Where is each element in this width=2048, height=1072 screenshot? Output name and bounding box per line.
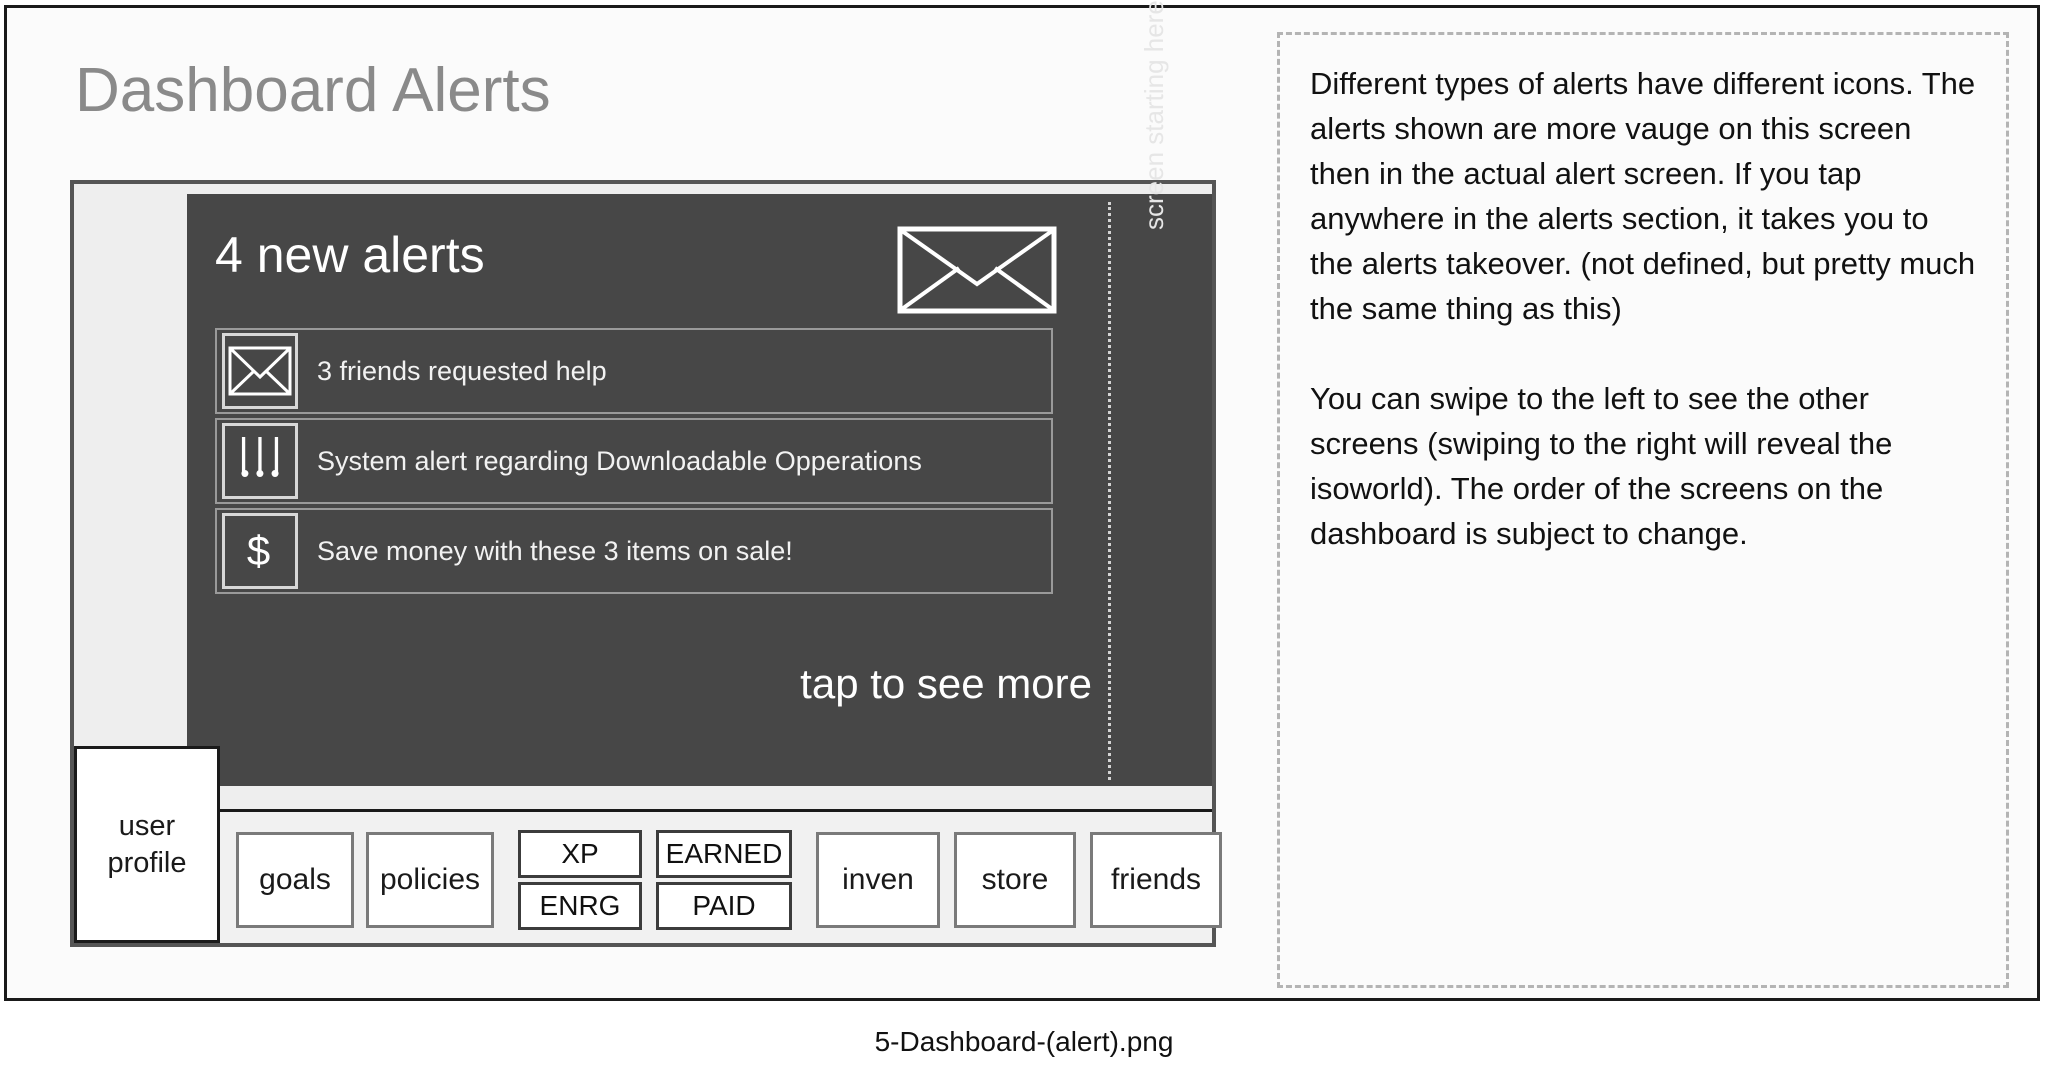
nav-item-inven-label: inven [842,863,914,897]
stat-earned[interactable]: EARNED [656,830,792,878]
list-item-label: Save money with these 3 items on sale! [317,510,793,592]
nav-item-user-profile-line1: user [119,808,175,844]
stat-paid[interactable]: PAID [656,882,792,930]
slide-canvas: Dashboard Alerts 4 new alerts [0,0,2048,1072]
alerts-header-title: 4 new alerts [215,226,485,284]
phone-mockup: 4 new alerts [70,180,1216,947]
page-title: Dashboard Alerts [75,55,551,126]
list-item-label: System alert regarding Downloadable Oppe… [317,420,922,502]
dollar-icon: $ [222,513,298,589]
nav-item-policies[interactable]: policies [366,832,494,928]
list-item[interactable]: $ Save money with these 3 items on sale! [215,508,1053,594]
nav-item-inven[interactable]: inven [816,832,940,928]
tap-to-see-more-label[interactable]: tap to see more [800,660,1092,708]
list-item-label: 3 friends requested help [317,330,607,412]
nav-item-goals-label: goals [259,863,331,897]
nav-item-store-label: store [982,863,1049,897]
nav-item-policies-label: policies [380,863,480,897]
nav-item-friends-label: friends [1111,863,1201,897]
list-item[interactable]: ||| ••• System alert regarding Downloada… [215,418,1053,504]
envelope-icon [897,226,1057,314]
alerts-screen: 4 new alerts [187,194,1212,786]
nav-item-friends[interactable]: friends [1090,832,1222,928]
screen-divider [1108,202,1111,780]
slide-frame: Dashboard Alerts 4 new alerts [4,5,2040,1001]
list-item[interactable]: 3 friends requested help [215,328,1053,414]
annotation-paragraph-1: Different types of alerts have different… [1310,61,1976,331]
stat-paid-label: PAID [692,890,755,922]
stat-enrg-label: ENRG [540,890,621,922]
file-caption: 5-Dashboard-(alert).png [0,1026,2048,1058]
annotation-panel: Different types of alerts have different… [1277,32,2009,988]
bottom-nav-bar: user profile goals policies XP ENRG EARN… [74,809,1212,943]
nav-item-user-profile-line2: profile [108,845,187,881]
exclamation-dots: ••• [240,464,285,483]
stat-earned-label: EARNED [666,838,783,870]
nav-item-store[interactable]: store [954,832,1076,928]
envelope-icon [222,333,298,409]
stat-xp-label: XP [561,838,598,870]
exclamation-icon: ||| ••• [222,423,298,499]
stat-xp[interactable]: XP [518,830,642,878]
nav-item-goals[interactable]: goals [236,832,354,928]
annotation-paragraph-2: You can swipe to the left to see the oth… [1310,376,1976,556]
next-screen-hint: you can see the next screen starting her… [1137,0,1207,234]
dollar-icon-glyph: $ [247,530,273,572]
stat-enrg[interactable]: ENRG [518,882,642,930]
next-screen-hint-line2: screen starting here [1137,0,1207,234]
alerts-list: 3 friends requested help ||| ••• System … [215,328,1053,598]
nav-item-user-profile[interactable]: user profile [74,746,220,943]
